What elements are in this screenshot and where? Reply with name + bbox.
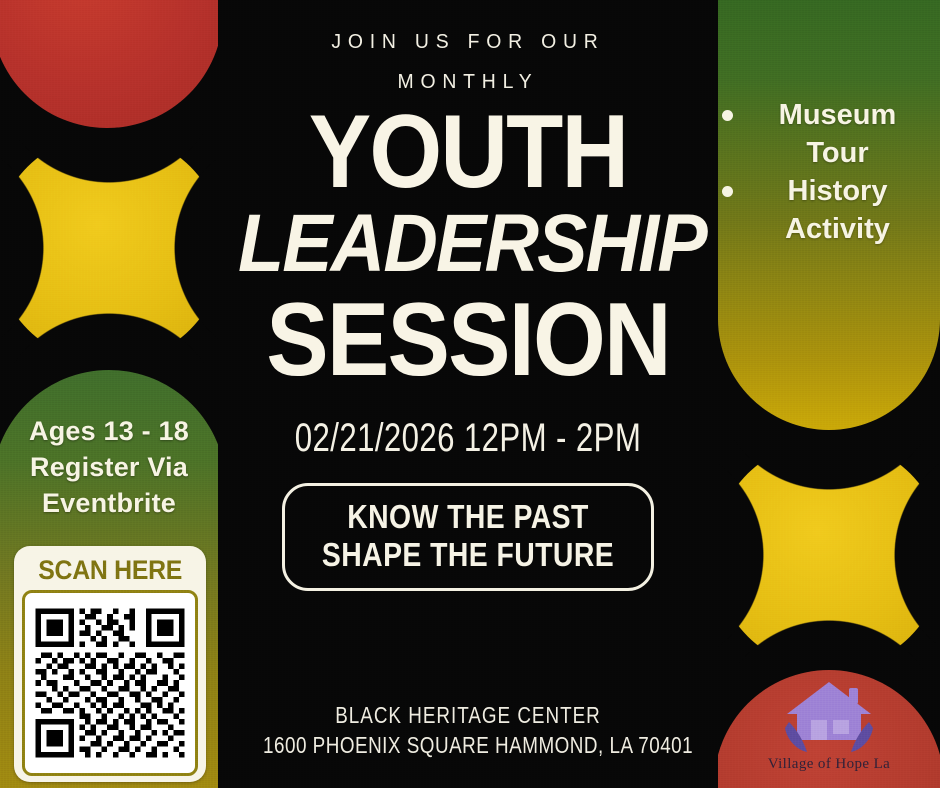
gold-star-circle-shape-right	[718, 440, 940, 670]
title-line-3: SESSION	[243, 290, 693, 390]
venue-address: 1600 PHOENIX SQUARE HAMMOND, LA 70401	[263, 730, 673, 760]
list-item: Museum	[718, 96, 940, 134]
ages-label: Ages 13 - 18	[0, 413, 218, 449]
tagline-line-2: SHAPE THE FUTURE	[319, 536, 617, 574]
gold-star-circle-shape	[0, 133, 218, 363]
list-item: Activity	[718, 210, 940, 248]
main-content-column: JOIN US FOR OUR MONTHLY YOUTH LEADERSHIP…	[218, 0, 718, 788]
organization-logo: Village of Hope La	[718, 676, 940, 773]
scan-here-label: SCAN HERE	[38, 555, 182, 586]
house-hands-logo-icon	[775, 676, 883, 758]
venue-name: BLACK HERITAGE CENTER	[263, 700, 673, 730]
activity-label: History	[741, 172, 940, 210]
qr-code[interactable]	[30, 603, 190, 763]
venue-footer: BLACK HERITAGE CENTER 1600 PHOENIX SQUAR…	[218, 700, 718, 760]
activities-list: Museum Tour History Activity	[718, 96, 940, 248]
right-decoration-column: Museum Tour History Activity	[718, 0, 940, 788]
activity-label: Activity	[741, 210, 940, 248]
left-decoration-column: Ages 13 - 18 Register Via Eventbrite SCA…	[0, 0, 218, 788]
qr-code-frame	[22, 590, 198, 776]
event-datetime: 02/21/2026 12PM - 2PM	[273, 416, 663, 461]
scan-here-card[interactable]: SCAN HERE	[14, 546, 206, 782]
title-line-1: YOUTH	[243, 106, 693, 198]
registration-info: Ages 13 - 18 Register Via Eventbrite	[0, 413, 218, 521]
activity-label: Tour	[741, 134, 940, 172]
poster-canvas: Ages 13 - 18 Register Via Eventbrite SCA…	[0, 0, 940, 788]
activity-label: Museum	[741, 96, 940, 134]
platform-label: Eventbrite	[0, 485, 218, 521]
title-line-2: LEADERSHIP	[238, 198, 698, 290]
bullet-dot-icon	[722, 110, 733, 121]
page-title: YOUTH LEADERSHIP SESSION	[218, 106, 718, 390]
list-item: Tour	[718, 134, 940, 172]
kicker-text: JOIN US FOR OUR MONTHLY	[226, 0, 711, 102]
tagline-box: KNOW THE PAST SHAPE THE FUTURE	[282, 483, 654, 591]
bullet-dot-icon	[722, 186, 733, 197]
kicker-line-1: JOIN US FOR OUR	[226, 22, 711, 62]
red-circle-shape	[0, 0, 218, 128]
list-item: History	[718, 172, 940, 210]
register-label: Register Via	[0, 449, 218, 485]
tagline-line-1: KNOW THE PAST	[319, 498, 617, 536]
organization-name: Village of Hope La	[718, 756, 940, 773]
